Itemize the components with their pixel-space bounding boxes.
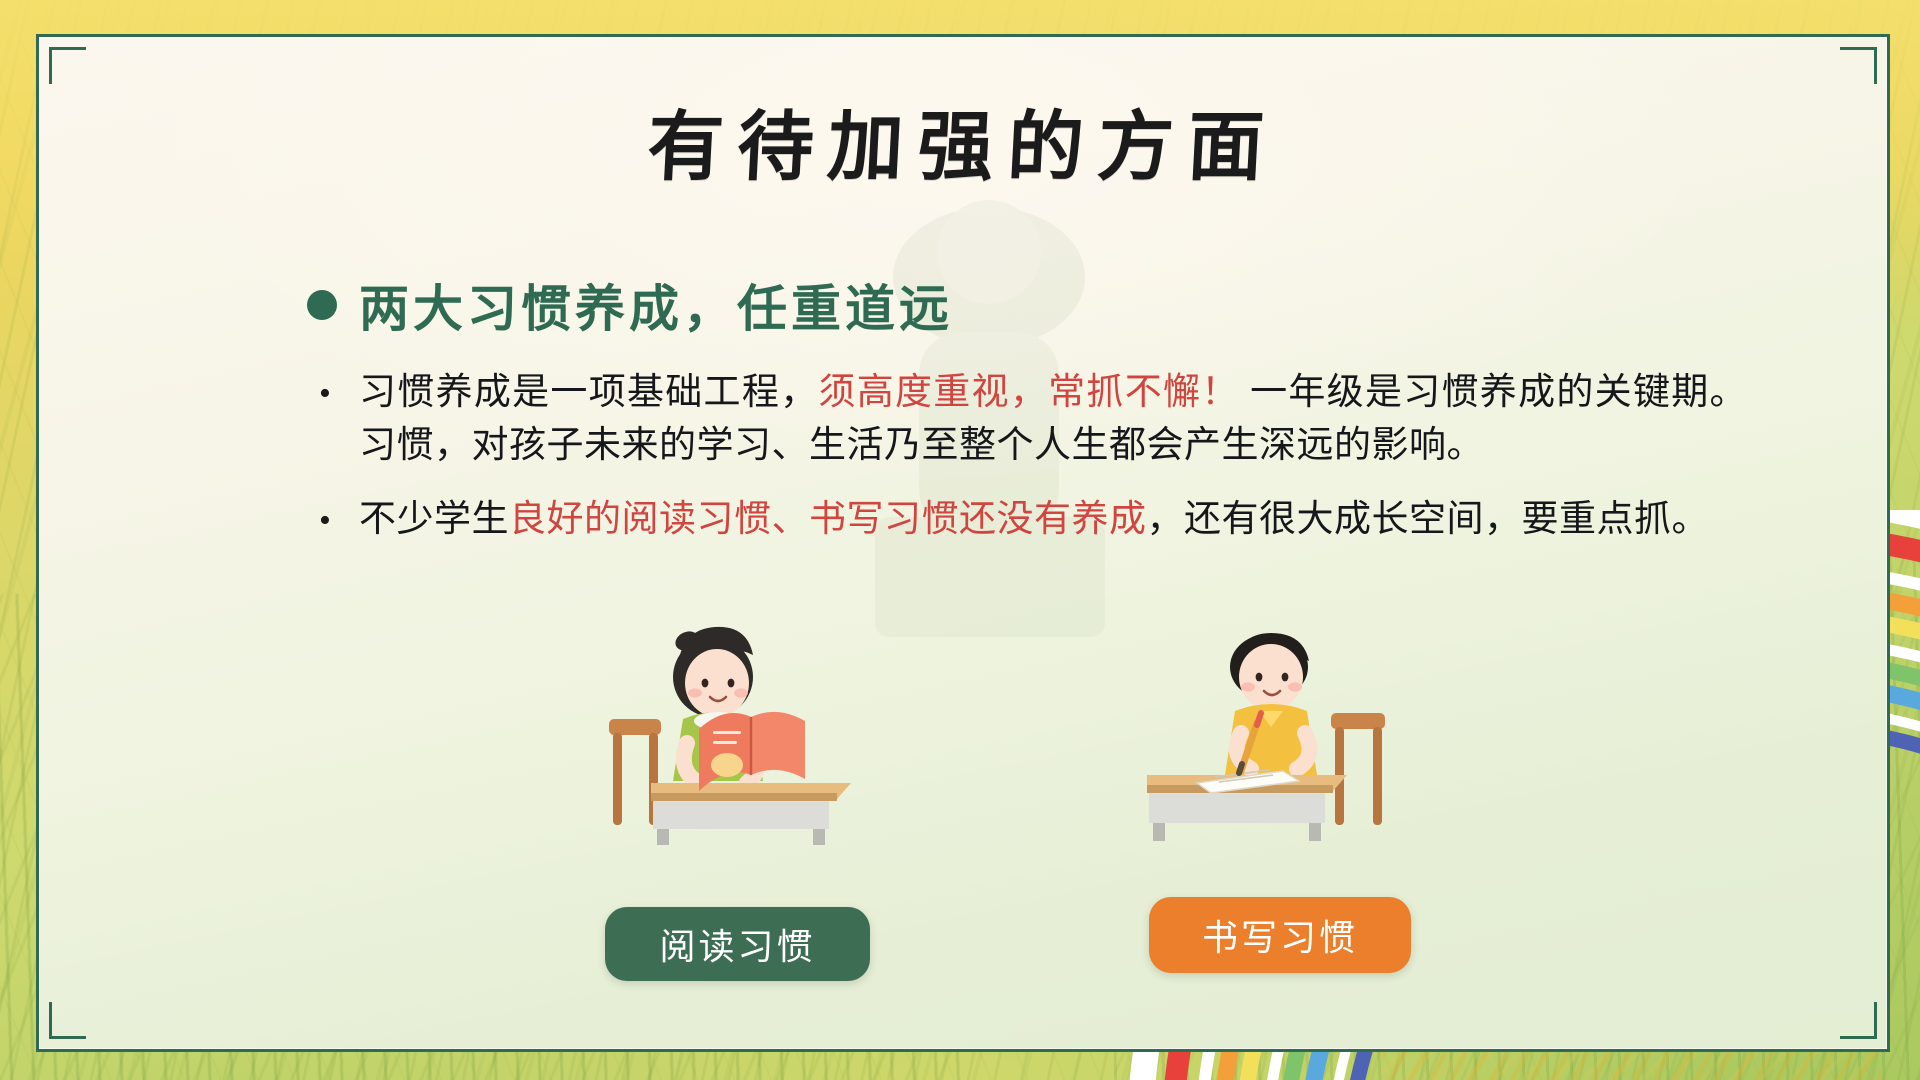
bullet-text: 不少学生良好的阅读习惯、书写习惯还没有养成，还有很大成长空间，要重点抓。 — [359, 494, 1709, 548]
label-reading-habit[interactable]: 阅读习惯 — [605, 907, 870, 981]
corner-decoration-top-left — [49, 47, 86, 84]
bullet-marker: • — [317, 494, 333, 548]
filled-circle-bullet-icon — [307, 290, 337, 320]
corner-decoration-bottom-left — [49, 1002, 86, 1039]
bullet-item: • 不少学生良好的阅读习惯、书写习惯还没有养成，还有很大成长空间，要重点抓。 — [317, 494, 1747, 548]
slide-root: 有待加强的方面 两大习惯养成，任重道远 • 习惯养成是一项基础工程，须高度重视，… — [0, 0, 1920, 1080]
bullet-segment: 不少学生 — [359, 499, 509, 540]
body-content: • 习惯养成是一项基础工程，须高度重视，常抓不懈！ 一年级是习惯养成的关键期。习… — [317, 367, 1747, 570]
bullet-text: 习惯养成是一项基础工程，须高度重视，常抓不懈！ 一年级是习惯养成的关键期。习惯，… — [359, 367, 1747, 472]
girl-reading-book-illustration — [591, 615, 863, 845]
bullet-segment-highlight: 良好的阅读习惯、书写习惯还没有养成 — [509, 499, 1147, 540]
page-title: 有待加强的方面 — [36, 85, 1890, 195]
label-writing-habit[interactable]: 书写习惯 — [1149, 897, 1411, 973]
slide-card: 有待加强的方面 两大习惯养成，任重道远 • 习惯养成是一项基础工程，须高度重视，… — [36, 34, 1890, 1052]
bullet-item: • 习惯养成是一项基础工程，须高度重视，常抓不懈！ 一年级是习惯养成的关键期。习… — [317, 367, 1747, 472]
bullet-segment: 习惯养成是一项基础工程， — [359, 372, 818, 413]
subtitle-row: 两大习惯养成，任重道远 — [307, 269, 953, 341]
bullet-segment: ，还有很大成长空间，要重点抓。 — [1147, 499, 1710, 540]
subtitle-text: 两大习惯养成，任重道远 — [359, 269, 953, 341]
bullet-segment-highlight: 须高度重视，常抓不懈！ — [818, 372, 1239, 413]
boy-writing-illustration — [1135, 615, 1407, 845]
corner-decoration-top-right — [1840, 47, 1877, 84]
corner-decoration-bottom-right — [1840, 1002, 1877, 1039]
bullet-marker: • — [317, 367, 333, 472]
